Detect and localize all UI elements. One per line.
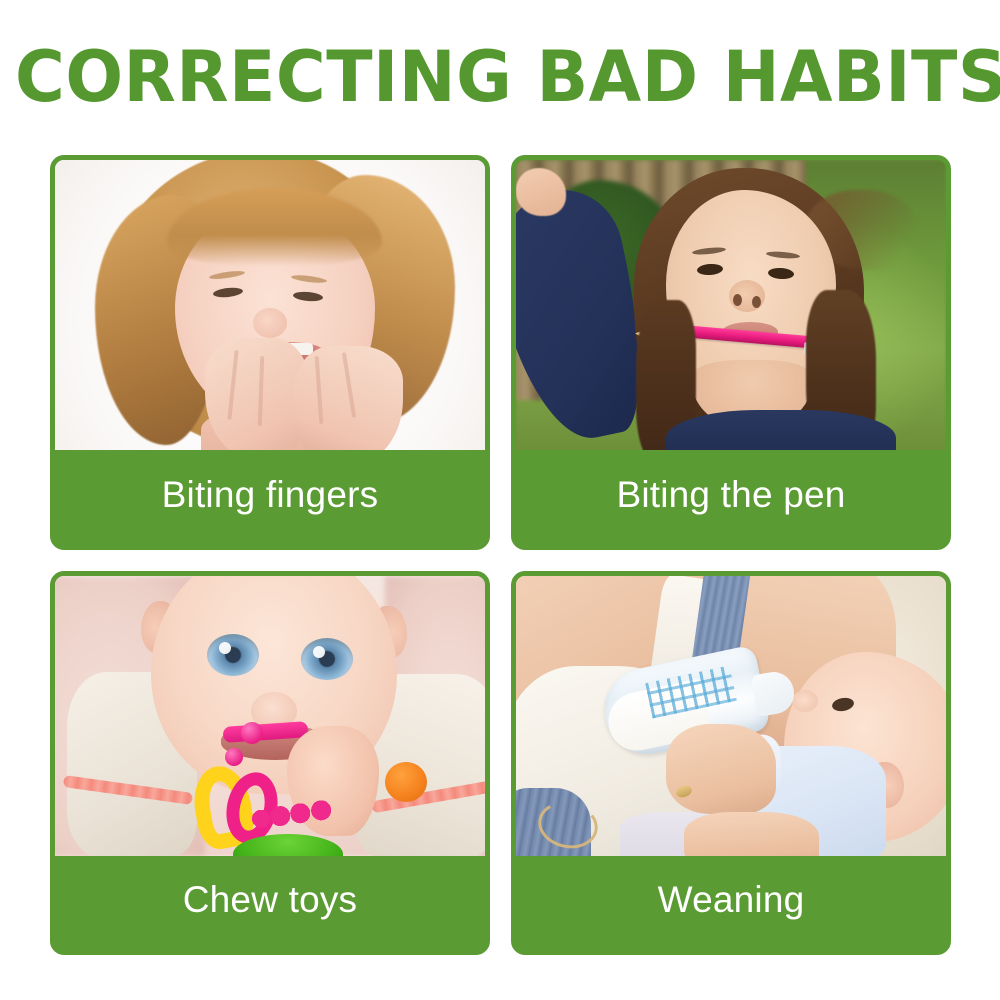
- habit-card-label: Weaning: [516, 856, 946, 950]
- correcting-bad-habits-infographic: CORRECTING BAD HABITS: [0, 0, 1000, 1000]
- photo-biting-fingers: [55, 160, 485, 450]
- page-title: CORRECTING BAD HABITS: [15, 40, 985, 114]
- photo-biting-the-pen: [516, 160, 946, 450]
- habit-card-label: Biting the pen: [516, 450, 946, 545]
- habit-card-grid: Biting fingers: [50, 155, 951, 955]
- habit-card-label: Chew toys: [55, 856, 485, 950]
- habit-card-label: Biting fingers: [55, 450, 485, 545]
- habit-card-biting-the-pen[interactable]: Biting the pen: [511, 155, 951, 550]
- habit-card-biting-fingers[interactable]: Biting fingers: [50, 155, 490, 550]
- photo-weaning: [516, 576, 946, 856]
- habit-card-weaning[interactable]: Weaning: [511, 571, 951, 955]
- photo-chew-toys: [55, 576, 485, 856]
- habit-card-chew-toys[interactable]: Chew toys: [50, 571, 490, 955]
